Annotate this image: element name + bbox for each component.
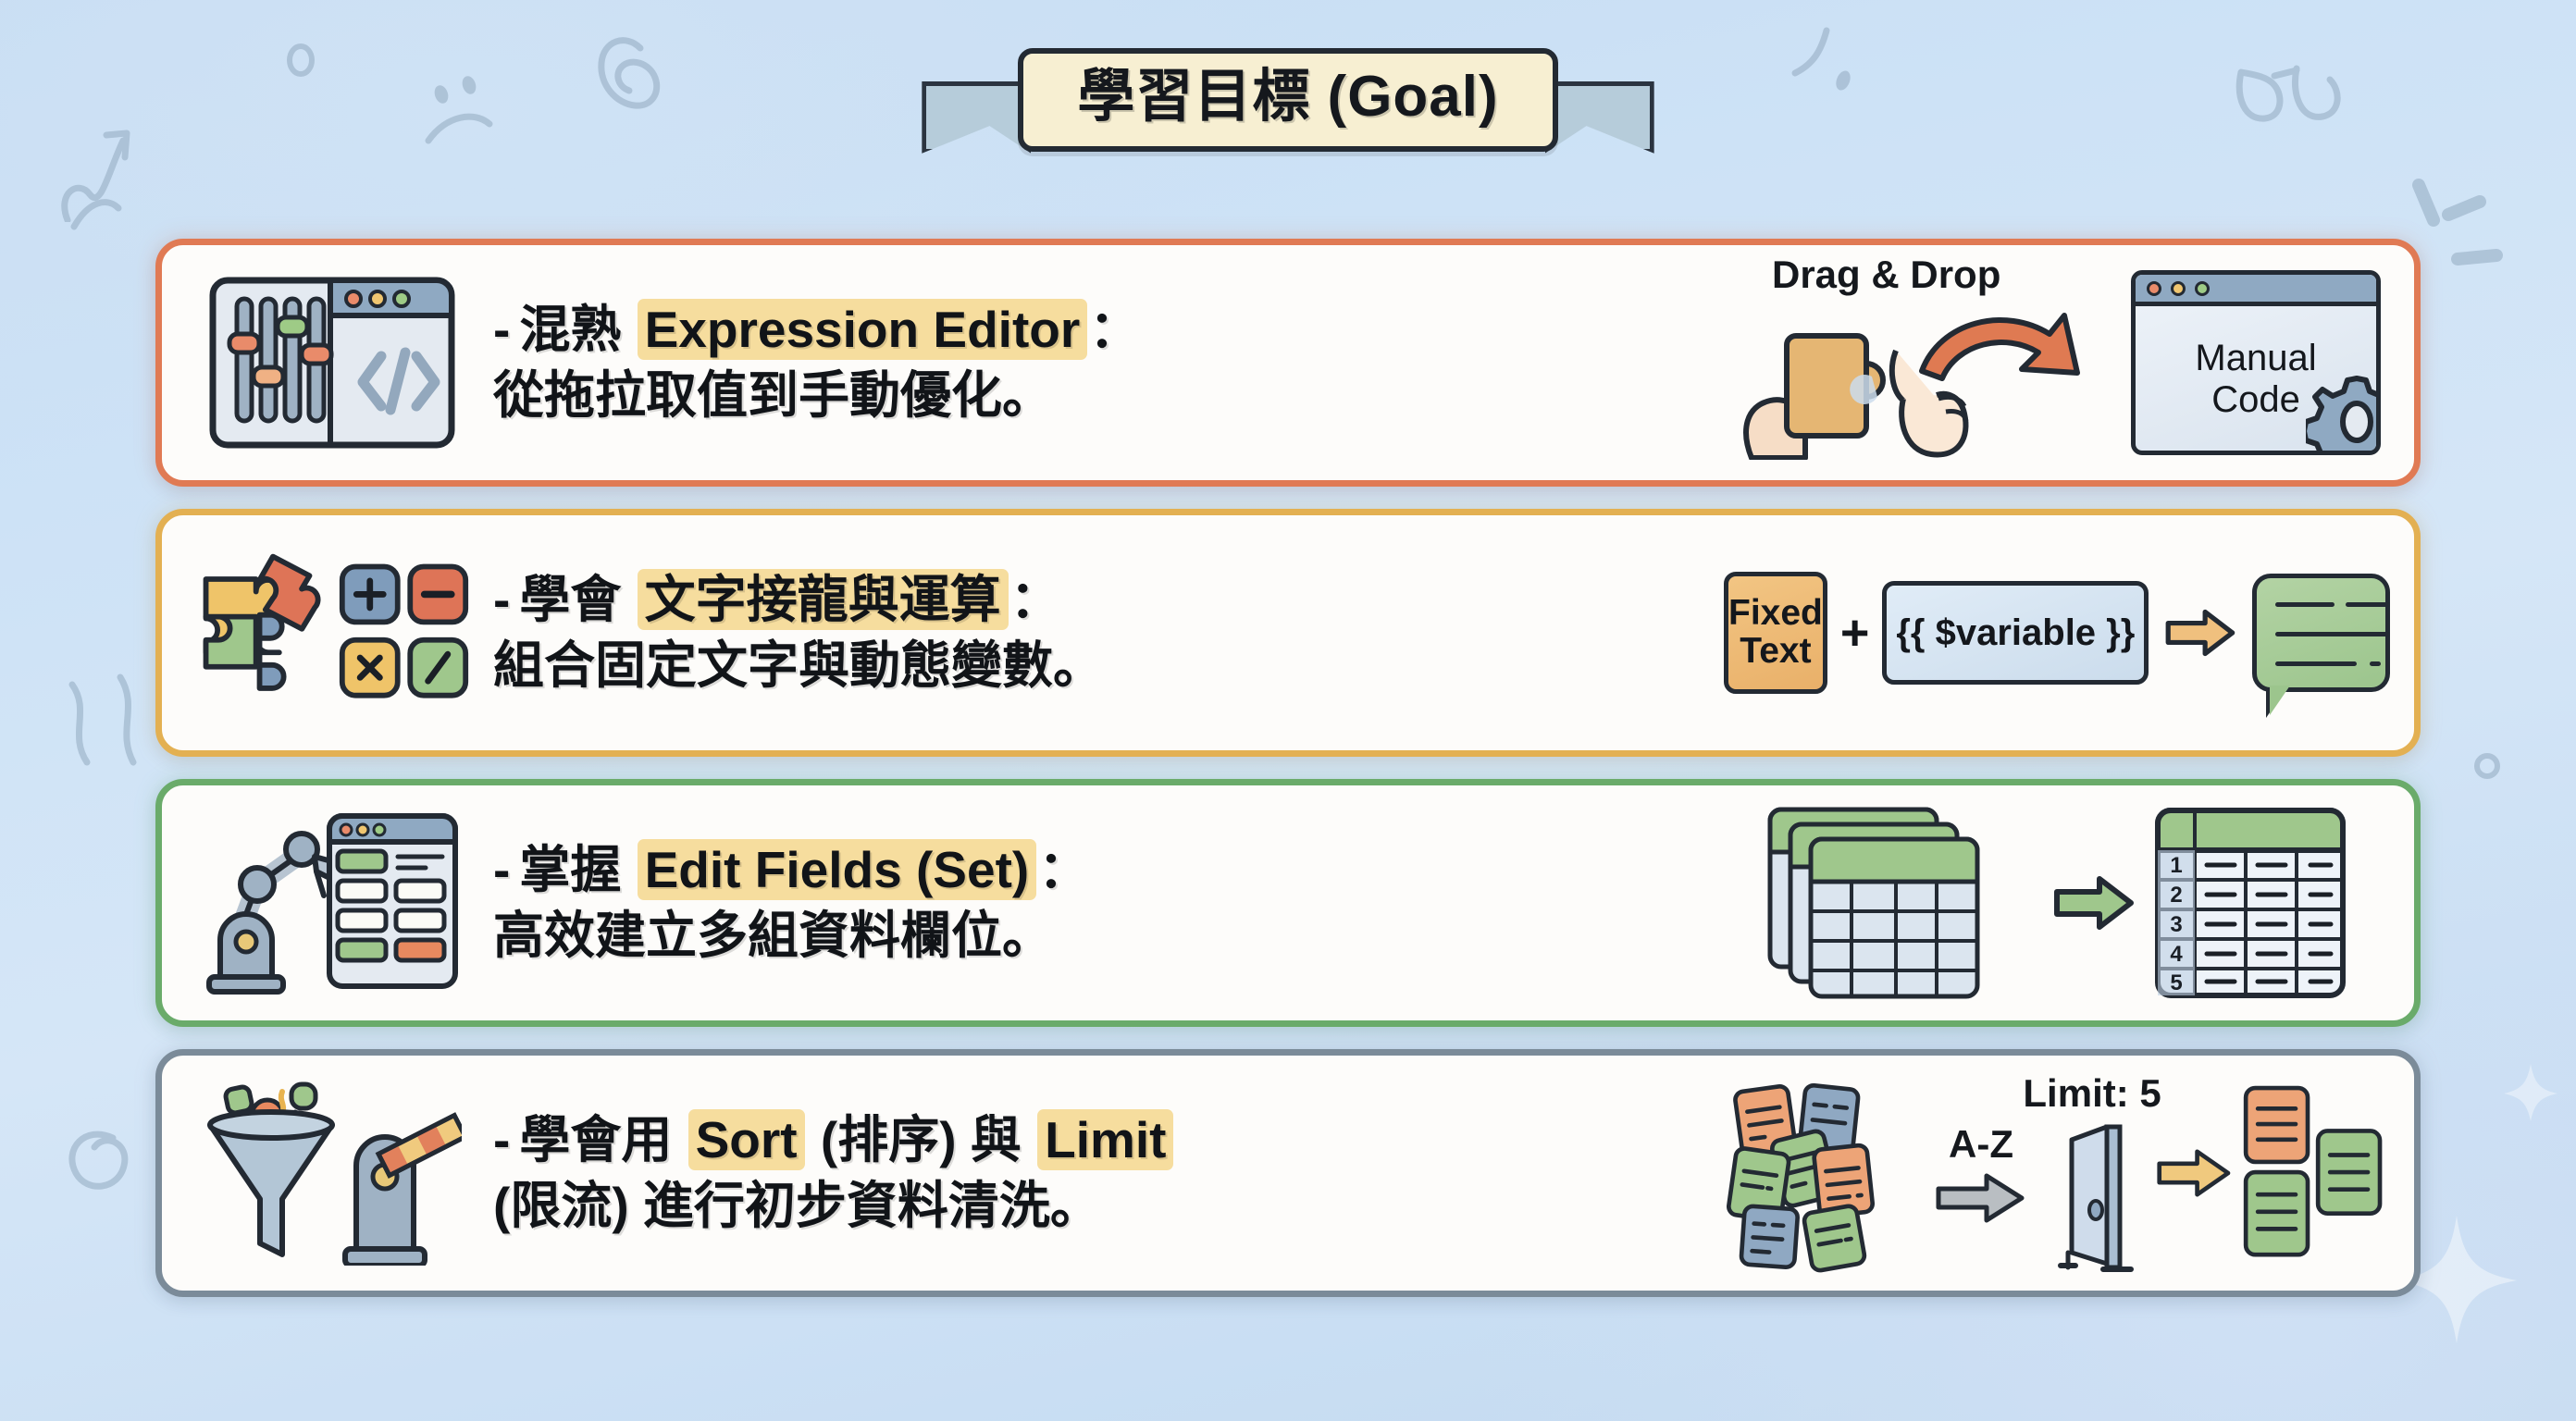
sort-limit-gate-illustration: A-Z Limit: 5 [1724,1071,2390,1275]
goal-text-edit-fields: -掌握 Edit Fields (Set)： 高效建立多組資料欄位。 [471,837,1724,970]
goal-text-sort-limit: -學會用 Sort (排序) 與 Limit (限流) 進行初步資料清洗。 [471,1107,1724,1240]
goal-line-2: 從拖拉取值到手動優化。 [493,363,1713,429]
svg-text:3: 3 [2170,912,2182,937]
arrow-right-icon [2163,603,2237,662]
page-title: 學習目標 (Goal) [1077,63,1498,131]
line1-post: ： [1010,571,1061,628]
line1-pre: 掌握 [519,841,635,898]
window-dot-green [2195,281,2210,296]
svg-text:2: 2 [2170,883,2182,908]
goal-text-expression-editor: -混熟 Expression Editor： 從拖拉取值到手動優化。 [471,297,1724,429]
line1-pre: 混熟 [519,301,635,358]
arrow-right-icon [2156,1146,2232,1200]
fixed-text-line-1: Fixed [1728,595,1823,633]
fixed-text-tag: Fixed Text [1724,572,1827,694]
goal-line-2: 高效建立多組資料欄位。 [493,903,1713,970]
robot-arm-and-form-window-icon [193,810,471,995]
door-gate-icon [2038,1118,2146,1275]
bullet-dash: - [493,841,510,898]
goal-line-1: -掌握 Edit Fields (Set)： [493,837,1713,904]
line1-pre: 學會用 [519,1111,686,1168]
burst-lines-doodle-icon [2406,176,2563,296]
bullet-dash: - [493,301,510,358]
goal-banner: 學習目標 (Goal) [0,44,2576,155]
line1-highlight: 文字接龍與運算 [638,569,1009,630]
fixed-text-plus-variable-illustration: Fixed Text + {{ $variable }} [1724,572,2390,694]
line1-highlight: Edit Fields (Set) [638,839,1037,900]
scattered-cards-icon [1724,1071,1930,1275]
ribbon-tail-right [1545,81,1654,154]
wave-doodle-icon [54,666,165,796]
goal-line-1: -混熟 Expression Editor： [493,297,1713,364]
line1-pre: 學會 [519,571,635,628]
arrow-right-icon [2051,873,2136,933]
bullet-dash: - [493,571,510,628]
arrow-right-icon [1935,1172,2027,1224]
line1-post: ： [1089,301,1140,358]
stacked-tables-icon [1766,806,2035,1000]
svg-text:4: 4 [2170,942,2183,967]
line1-mid: (排序) 與 [807,1111,1035,1168]
puzzle-pieces-and-operators-icon [193,550,471,716]
goal-row-sort-limit: -學會用 Sort (排序) 與 Limit (限流) 進行初步資料清洗。 [155,1049,2421,1297]
window-dot-yellow [2171,281,2186,296]
window-dot-red [2147,281,2161,296]
bullet-dash: - [493,1111,510,1168]
stacked-tables-to-table-illustration: 12345 [1724,806,2390,1000]
funnel-and-barrier-icon [193,1081,471,1266]
drag-and-drop-label: Drag & Drop [1772,253,2000,297]
spiral-doodle-icon [48,1101,168,1230]
line1-highlight-limit: Limit [1037,1109,1173,1170]
dot-doodle-icon [2461,740,2517,796]
goal-line-2: (限流) 進行初步資料清洗。 [493,1173,1713,1240]
svg-text:1: 1 [2170,853,2182,878]
infographic-canvas: 學習目標 (Goal) [0,0,2576,1421]
goal-row-text-concat: -學會 文字接龍與運算： 組合固定文字與動態變數。 Fixed Text + {… [155,509,2421,757]
line1-highlight-sort: Sort [688,1109,805,1170]
small-star-icon [2498,1055,2563,1129]
drag-and-drop-to-manual-code-illustration: Drag & Drop [1724,266,2390,460]
goal-line-1: -學會 文字接龍與運算： [493,567,1713,634]
goal-row-edit-fields: -掌握 Edit Fields (Set)： 高效建立多組資料欄位。 [155,779,2421,1027]
goal-line-1: -學會用 Sort (排序) 與 Limit [493,1107,1713,1174]
fixed-text-line-2: Text [1728,633,1823,671]
line1-post: ： [1038,841,1089,898]
ribbon-tail-left [922,81,1031,154]
ribbon-body: 學習目標 (Goal) [1018,48,1557,152]
sliders-and-code-window-icon [193,275,471,451]
plus-operator: + [1840,604,1870,661]
line1-highlight: Expression Editor [638,299,1088,360]
gear-icon [2306,371,2381,455]
manual-code-line-1: Manual [2195,338,2316,379]
limit-label: Limit: 5 [2023,1071,2161,1116]
goal-row-expression-editor: -混熟 Expression Editor： 從拖拉取值到手動優化。 Drag … [155,239,2421,487]
manual-code-window: Manual Code [2131,270,2381,455]
goal-list: -混熟 Expression Editor： 從拖拉取值到手動優化。 Drag … [155,239,2421,1297]
variable-tag: {{ $variable }} [1882,581,2149,685]
sorted-cards-icon [2235,1076,2390,1270]
sort-az-label: A-Z [1949,1122,2013,1167]
numbered-table-icon: 12345 [2153,806,2347,1000]
window-titlebar [2136,275,2376,306]
goal-text-text-concat: -學會 文字接龍與運算： 組合固定文字與動態變數。 [471,567,1724,699]
ribbon: 學習目標 (Goal) [1018,48,1557,152]
speech-bubble-icon [2252,574,2390,692]
manual-code-line-2: Code [2211,379,2300,421]
goal-line-2: 組合固定文字與動態變數。 [493,633,1713,699]
svg-text:5: 5 [2170,970,2182,995]
